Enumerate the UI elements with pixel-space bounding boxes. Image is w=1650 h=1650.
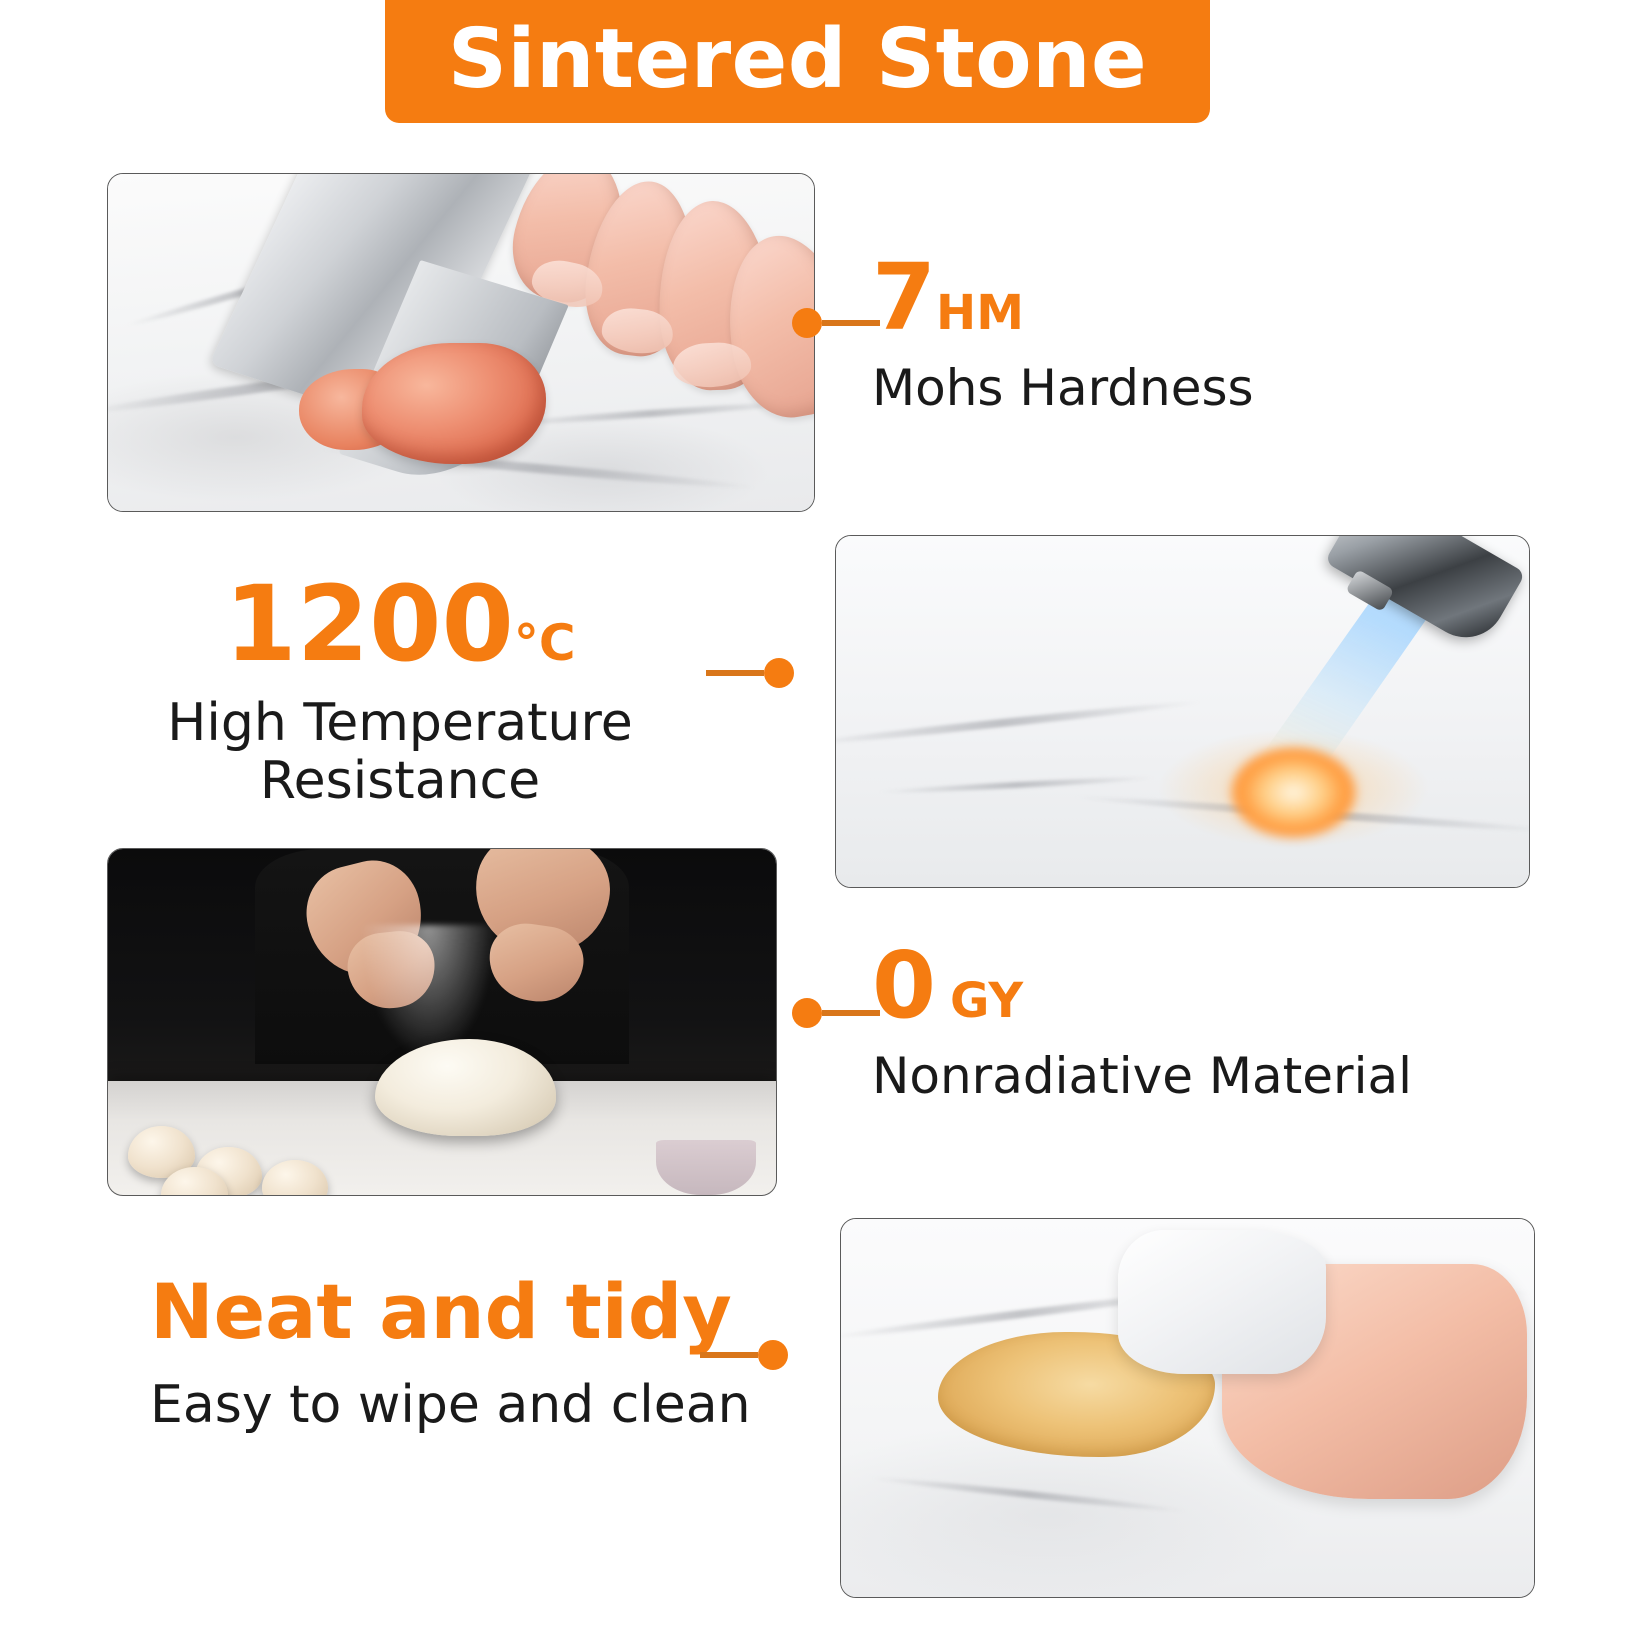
falling-flour: [362, 925, 496, 1056]
feature-nonradiative: 0GY Nonradiative Material: [872, 940, 1412, 1104]
feature-unit: HM: [936, 289, 1024, 337]
feature-caption: Nonradiative Material: [872, 1048, 1412, 1104]
connector-dot: [792, 308, 822, 338]
feature-value-row: 7HM: [872, 252, 1254, 344]
feature-image-high-temperature: [835, 535, 1530, 888]
infographic-page: Sintered Stone 7HM Mohs Hardness: [0, 0, 1650, 1650]
flame-hot-spot: [1231, 747, 1356, 838]
feature-value: Neat and tidy: [150, 1274, 751, 1350]
feature-image-mohs-hardness: [107, 173, 815, 512]
feature-value-row: 1200°C: [120, 572, 680, 676]
meat-slice: [362, 343, 546, 464]
feature-caption: Mohs Hardness: [872, 360, 1254, 416]
feature-easy-clean: Neat and tidy Easy to wipe and clean: [150, 1274, 751, 1434]
feature-high-temperature: 1200°C High Temperature Resistance: [120, 572, 680, 810]
feature-image-easy-clean: [840, 1218, 1535, 1598]
feature-value: 0: [872, 940, 936, 1032]
connector-mohs-hardness: [792, 308, 880, 338]
feature-caption: Easy to wipe and clean: [150, 1376, 751, 1434]
connector-dot: [764, 658, 794, 688]
connector-dot: [758, 1340, 788, 1370]
feature-value: 1200: [224, 572, 513, 676]
connector-line: [700, 1352, 758, 1358]
feature-value: 7: [872, 252, 936, 344]
feature-unit: °C: [514, 618, 576, 668]
connector-nonradiative: [792, 998, 880, 1028]
header-banner: Sintered Stone: [385, 0, 1210, 123]
page-title: Sintered Stone: [448, 19, 1147, 101]
feature-mohs-hardness: 7HM Mohs Hardness: [872, 252, 1254, 416]
connector-line: [706, 670, 764, 676]
feature-image-nonradiative: [107, 848, 777, 1196]
feature-caption: High Temperature Resistance: [120, 694, 680, 810]
connector-high-temperature: [706, 658, 794, 688]
feature-value-row: 0GY: [872, 940, 1412, 1032]
connector-easy-clean: [700, 1340, 788, 1370]
connector-dot: [792, 998, 822, 1028]
feature-unit: GY: [950, 977, 1023, 1025]
tissue-paper: [1118, 1230, 1326, 1374]
